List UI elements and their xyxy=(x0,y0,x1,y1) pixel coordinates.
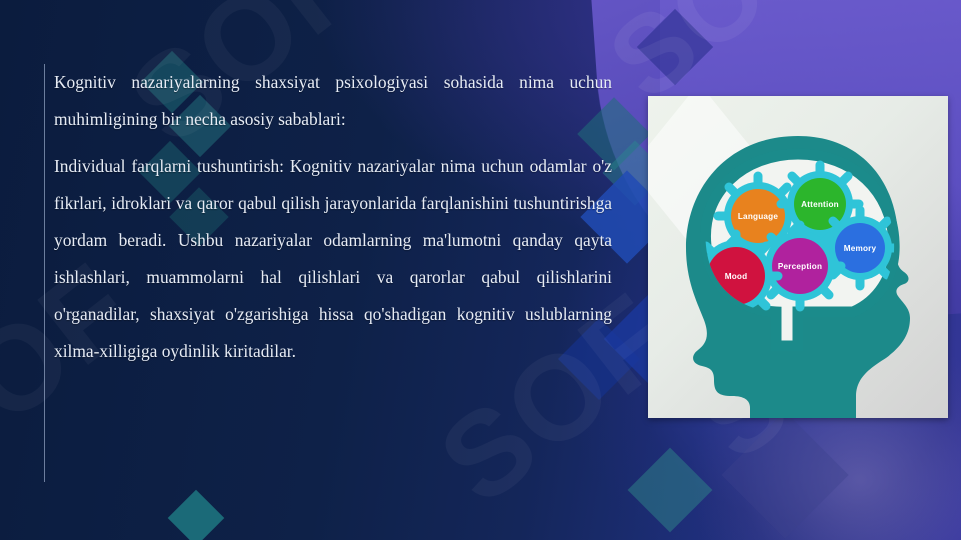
brain-gears-illustration: Language Attention xyxy=(648,96,948,418)
gear-label-memory: Memory xyxy=(844,244,877,253)
slide-body-text: Kognitiv nazariyalarning shaxsiyat psixo… xyxy=(44,64,612,482)
diamond-shape-blue-5 xyxy=(721,411,848,538)
gear-label-mood: Mood xyxy=(725,272,748,281)
diamond-shape-teal-3 xyxy=(628,448,713,533)
diamond-shape-teal-4 xyxy=(168,490,225,540)
diamond-shape-blue-1 xyxy=(637,9,713,85)
paragraph-detail: Individual farqlarni tushuntirish: Kogni… xyxy=(54,148,612,370)
gear-label-perception: Perception xyxy=(778,262,822,271)
slide-canvas: SOF SOF SOF SOF SOF Kognitiv nazariyalar… xyxy=(0,0,961,540)
brain-gears-svg: Language Attention xyxy=(648,96,948,418)
paragraph-intro: Kognitiv nazariyalarning shaxsiyat psixo… xyxy=(54,64,612,138)
gear-label-attention: Attention xyxy=(801,200,839,209)
gear-perception: Perception xyxy=(759,225,841,307)
gear-label-language: Language xyxy=(738,212,779,221)
